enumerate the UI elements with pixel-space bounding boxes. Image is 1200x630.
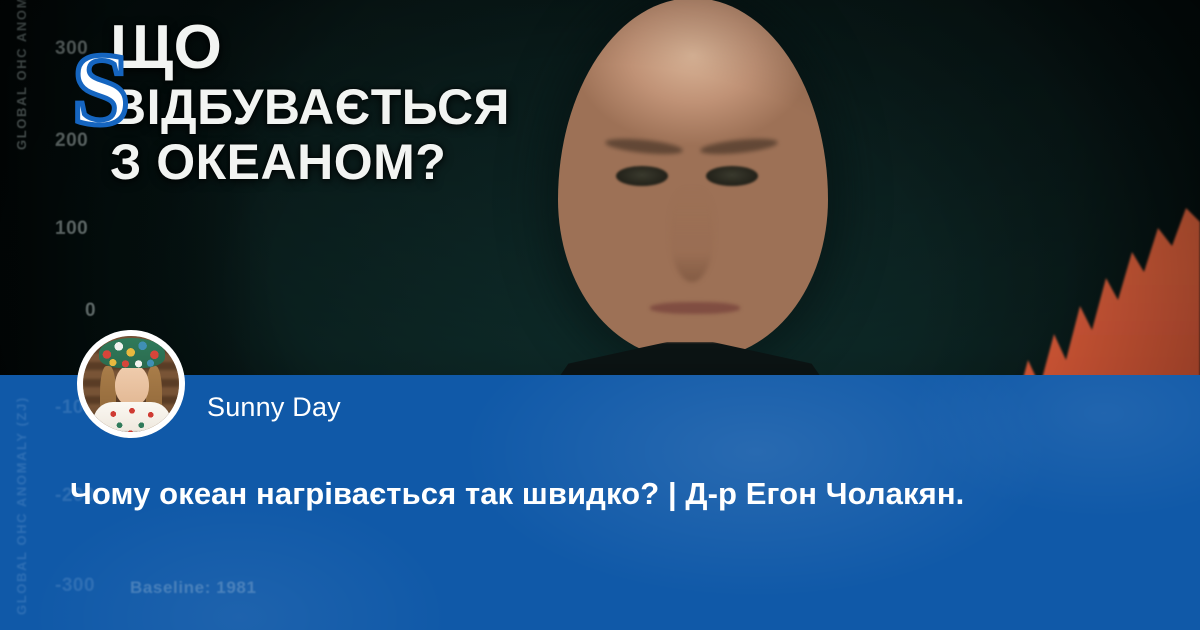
avatar[interactable] bbox=[80, 333, 182, 435]
avatar-image bbox=[83, 336, 179, 432]
thumbnail-overlay-line-3: З ОКЕАНОМ? bbox=[110, 138, 530, 187]
ghost-y-axis-title: GLOBAL OHC ANOMALY (ZJ) bbox=[14, 396, 29, 615]
thumbnail-overlay-text: ЩО ВІДБУВАЄТЬСЯ З ОКЕАНОМ? bbox=[110, 18, 530, 187]
s-logo-letter: S bbox=[72, 40, 130, 140]
thumbnail-overlay-line-2: ВІДБУВАЄТЬСЯ bbox=[110, 83, 530, 132]
social-share-card: GLOBAL OHC ANOMALY (ZJ) 300 200 100 0 ЩО… bbox=[0, 0, 1200, 630]
avatar-face bbox=[115, 364, 149, 406]
avatar-embroidered-blouse bbox=[93, 402, 171, 432]
thumbnail-overlay-line-1: ЩО bbox=[110, 18, 530, 79]
author-name[interactable]: Sunny Day bbox=[207, 392, 341, 423]
article-headline[interactable]: Чому океан нагрівається так швидко? | Д-… bbox=[70, 476, 964, 512]
ghost-baseline-note: Baseline: 1981 bbox=[130, 578, 257, 598]
ghost-ytick-minus300: -300 bbox=[55, 575, 95, 597]
avatar-flower-crown bbox=[99, 338, 165, 368]
s-logo-icon[interactable]: S bbox=[60, 40, 142, 140]
